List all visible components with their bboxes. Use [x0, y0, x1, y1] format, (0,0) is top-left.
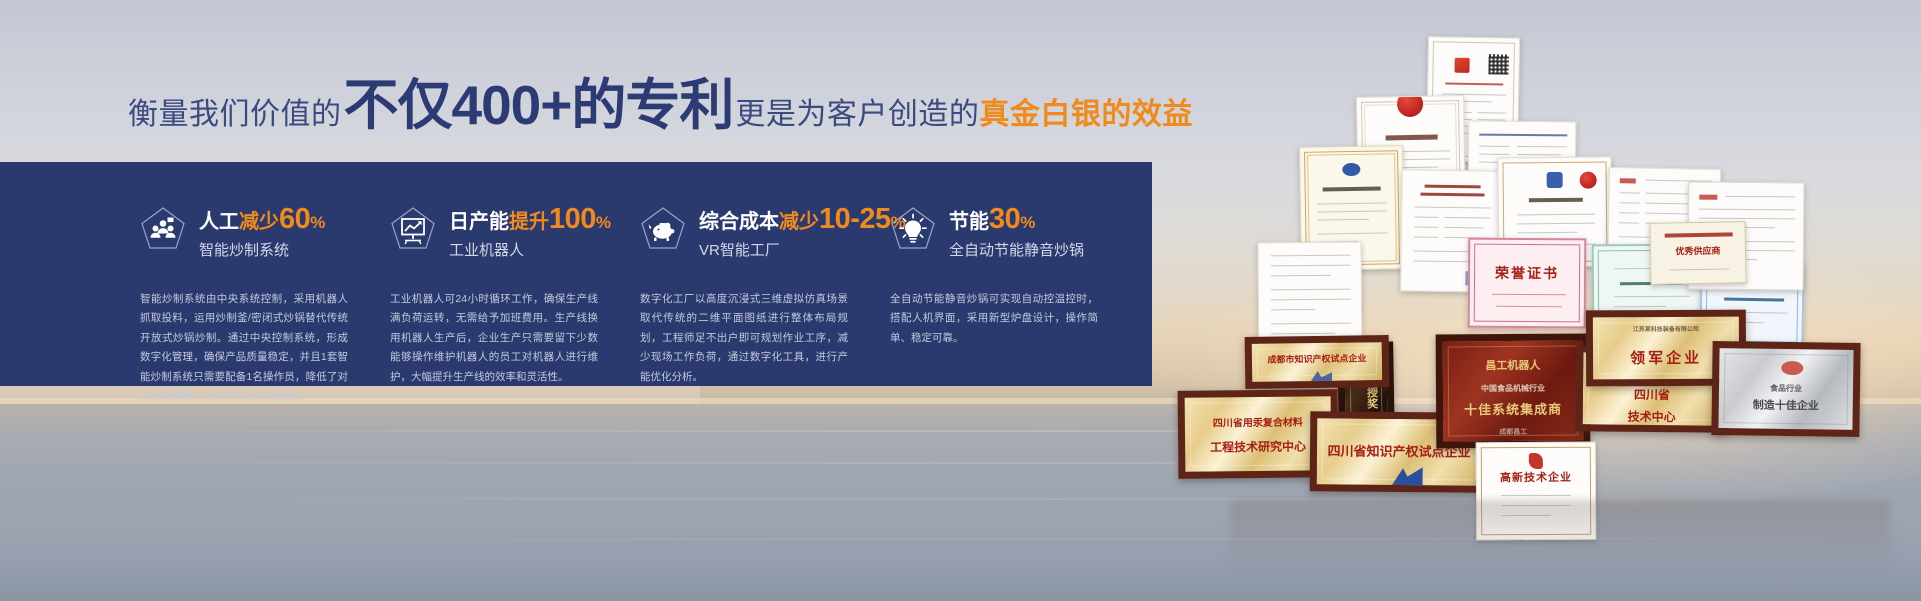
feature-descriptions-row: 智能炒制系统由中央系统控制，采用机器人抓取投料，运用炒制釜/密闭式炒锅替代传统开… — [140, 290, 1140, 407]
feature-subtitle-1: 智能炒制系统 — [199, 243, 325, 258]
feature-percent: % — [310, 213, 325, 232]
headline-emphasis: 不仅400+的专利 — [344, 78, 734, 133]
feature-title-orange: 减少 — [779, 211, 819, 233]
feature-title-3: 综合成本减少10-25% — [699, 205, 906, 234]
feature-title-white: 节能 — [949, 211, 989, 233]
award-plaque: 成都市知识产权试点企业 — [1245, 335, 1390, 389]
feature-headings-row: 人工减少60% 智能炒制系统 — [140, 204, 1140, 258]
feature-title-white: 日产能 — [449, 211, 509, 233]
feature-subtitle-2: 工业机器人 — [449, 243, 611, 258]
certificate-honor: 优秀供应商 — [1649, 221, 1746, 285]
feature-item-3[interactable]: 综合成本减少10-25% VR智能工厂 — [640, 204, 890, 258]
feature-title-orange: 减少 — [239, 211, 279, 233]
feature-number: 10-25 — [819, 203, 891, 235]
feature-item-1[interactable]: 人工减少60% 智能炒制系统 — [140, 204, 390, 258]
chart-board-icon — [390, 206, 436, 252]
certificate-pile: 荣誉证书 授奖 成都市知识产权试点企业 四川省用汞复合材料 工程技术研究中心 四… — [1180, 42, 1921, 512]
headline-middle: 更是为客户创造的 — [735, 100, 979, 130]
feature-title-orange: 提升 — [509, 211, 549, 233]
people-group-icon — [140, 206, 186, 252]
feature-item-2[interactable]: 日产能提升100% 工业机器人 — [390, 204, 640, 258]
page-headline: 衡量我们价值的 不仅400+的专利 更是为客户创造的 真金白银的效益 — [128, 78, 1193, 134]
feature-paragraph-4: 全自动节能静音炒锅可实现自动控温控时，搭配人机界面，采用新型炉盘设计，操作简单、… — [890, 290, 1140, 407]
piggy-bank-icon — [640, 206, 686, 252]
feature-item-4[interactable]: 节能30% 全自动节能静音炒锅 — [890, 204, 1140, 258]
feature-percent: % — [596, 213, 611, 232]
feature-panel: 人工减少60% 智能炒制系统 — [0, 162, 1152, 386]
feature-title-1: 人工减少60% — [199, 205, 325, 234]
feature-paragraph-1: 智能炒制系统由中央系统控制，采用机器人抓取投料，运用炒制釜/密闭式炒锅替代传统开… — [140, 290, 390, 407]
certificate-honor: 荣誉证书 — [1468, 238, 1587, 329]
feature-paragraph-2: 工业机器人可24小时循环工作，确保生产线满负荷运转，无需给予加班费用。生产线换用… — [390, 290, 640, 407]
feature-title-white: 人工 — [199, 211, 239, 233]
pile-reflection — [1230, 500, 1890, 570]
award-plaque: 食品行业 制造十佳企业 — [1711, 341, 1860, 437]
feature-number: 100 — [549, 203, 596, 235]
feature-percent: % — [1020, 213, 1035, 232]
award-plaque: 昌工机器人 中国食品机械行业 十佳系统集成商 成都昌工 — [1436, 333, 1591, 448]
feature-subtitle-3: VR智能工厂 — [699, 243, 906, 258]
headline-highlight: 真金白银的效益 — [979, 100, 1193, 130]
feature-title-white: 综合成本 — [699, 211, 779, 233]
feature-paragraph-3: 数字化工厂以高度沉浸式三维虚拟仿真场景取代传统的二维平面图纸进行整体布局规划，工… — [640, 290, 890, 407]
headline-lead: 衡量我们价值的 — [128, 100, 342, 130]
feature-number: 60 — [279, 203, 310, 235]
feature-title-2: 日产能提升100% — [449, 205, 611, 234]
lightbulb-icon — [890, 206, 936, 252]
feature-number: 30 — [989, 203, 1020, 235]
feature-title-4: 节能30% — [949, 205, 1084, 234]
feature-subtitle-4: 全自动节能静音炒锅 — [949, 243, 1084, 258]
